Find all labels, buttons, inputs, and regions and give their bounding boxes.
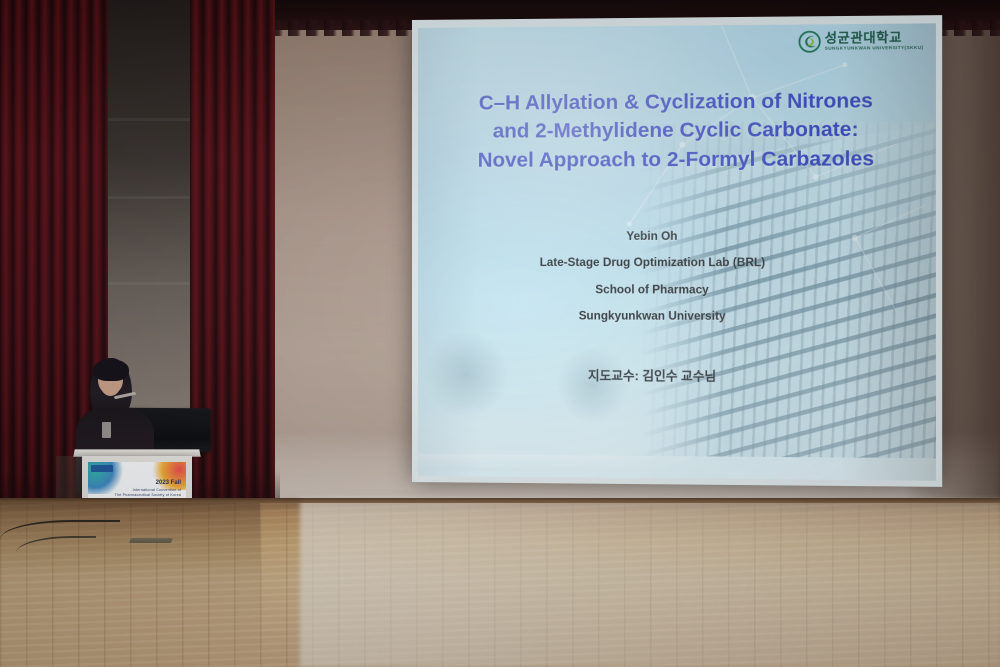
author-school: School of Pharmacy bbox=[432, 277, 876, 304]
author-university: Sungkyunkwan University bbox=[432, 303, 876, 331]
banner-line-2: The Pharmaceutical Society of Korea bbox=[115, 493, 181, 497]
floor-access-plate bbox=[129, 538, 173, 543]
slide-author-block: Yebin Oh Late-Stage Drug Optimization La… bbox=[432, 224, 876, 332]
title-line-3: Novel Approach to 2-Formyl Carbazoles bbox=[438, 144, 915, 174]
author-lab: Late-Stage Drug Optimization Lab (BRL) bbox=[432, 250, 876, 277]
skku-emblem-icon bbox=[798, 30, 821, 53]
wall-light-panel bbox=[255, 22, 430, 490]
banner-society-logo bbox=[91, 465, 113, 472]
auditorium-presentation-scene: 성균관대학교 SUNGKYUNKWAN UNIVERSITY(SKKU) C–H… bbox=[0, 0, 1000, 667]
projected-slide: 성균관대학교 SUNGKYUNKWAN UNIVERSITY(SKKU) C–H… bbox=[418, 23, 936, 480]
banner-year: 2023 Fall bbox=[156, 480, 181, 486]
floor-light-reflection bbox=[300, 498, 1000, 667]
banner-line-1: International Convention of bbox=[133, 488, 181, 492]
logo-english-name: SUNGKYUNKWAN UNIVERSITY(SKKU) bbox=[825, 46, 924, 51]
skku-logo: 성균관대학교 SUNGKYUNKWAN UNIVERSITY(SKKU) bbox=[798, 30, 924, 53]
title-line-2: and 2-Methylidene Cyclic Carbonate: bbox=[438, 116, 915, 147]
slide-title: C–H Allylation & Cyclization of Nitrones… bbox=[438, 87, 915, 175]
slide-advisor-line: 지도교수: 김인수 교수님 bbox=[432, 364, 876, 385]
stage-floor-edge bbox=[0, 498, 1000, 503]
projection-screen: 성균관대학교 SUNGKYUNKWAN UNIVERSITY(SKKU) C–H… bbox=[412, 15, 942, 487]
speaker-name-badge bbox=[102, 422, 111, 438]
title-line-1: C–H Allylation & Cyclization of Nitrones bbox=[438, 87, 915, 118]
author-name: Yebin Oh bbox=[432, 224, 876, 251]
stage-floor bbox=[0, 498, 1000, 667]
speaker-hair-front bbox=[93, 359, 129, 381]
logo-korean-name: 성균관대학교 bbox=[825, 31, 924, 45]
